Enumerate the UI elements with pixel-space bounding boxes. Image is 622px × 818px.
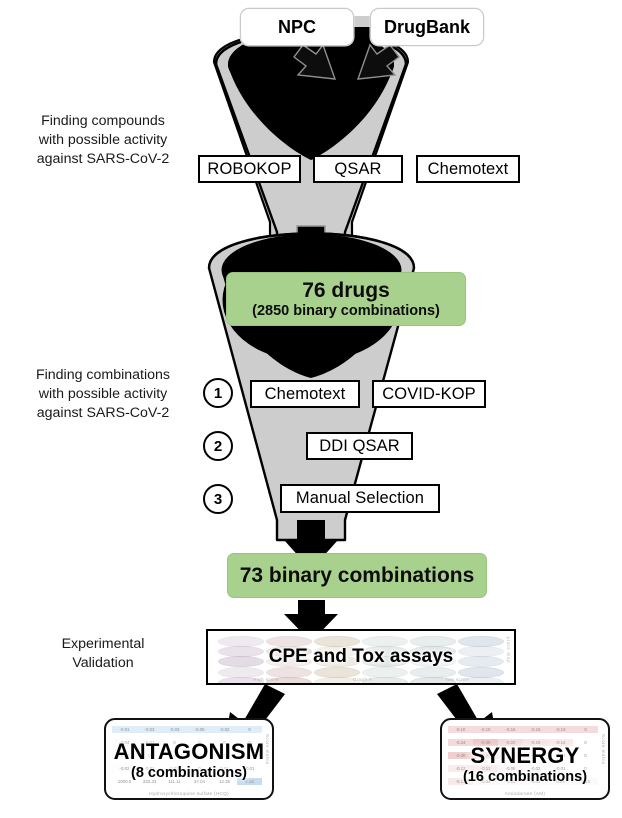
assay-well bbox=[218, 667, 264, 678]
heatmap-cell: -0.10 bbox=[448, 726, 473, 733]
method-box-chemotext-stage1[interactable]: Chemotext bbox=[416, 155, 520, 183]
heatmap-cell: -0.01 bbox=[112, 726, 137, 733]
step-number-1-label: 1 bbox=[214, 385, 222, 402]
synergy-caption: Amiodarone (AM) bbox=[442, 791, 608, 796]
assay-footer-item-2: low score bbox=[446, 677, 469, 682]
result-box-76-drugs: 76 drugs (2850 binary combinations) bbox=[226, 272, 466, 326]
source-box-npc-label: NPC bbox=[278, 17, 316, 38]
method-box-manual-selection-label: Manual Selection bbox=[296, 489, 424, 508]
heatmap-row: -0.01-0.03-0.03-0.05-0.020 bbox=[112, 726, 262, 733]
method-box-chemotext-stage2-label: Chemotext bbox=[265, 385, 346, 404]
source-connector-cap bbox=[353, 16, 371, 27]
method-box-chemotext-stage2[interactable]: Chemotext bbox=[250, 380, 360, 408]
heatmap-cell: -0.13 bbox=[548, 726, 573, 733]
synergy-subtitle: (16 combinations) bbox=[442, 768, 608, 787]
heatmap-cell: -0.02 bbox=[212, 726, 237, 733]
workflow-diagram: Finding compounds with possible activity… bbox=[0, 0, 622, 818]
assay-footer-item-1: Graph A bbox=[353, 677, 373, 682]
step-number-3-label: 3 bbox=[214, 491, 222, 508]
method-box-robokop[interactable]: ROBOKOP bbox=[198, 155, 301, 183]
result-73-combinations-headline: 73 binary combinations bbox=[240, 564, 475, 587]
method-box-qsar-label: QSAR bbox=[334, 160, 381, 179]
method-box-chemotext-stage1-label: Chemotext bbox=[428, 160, 509, 179]
heatmap-cell: -0.05 bbox=[187, 726, 212, 733]
assay-well bbox=[410, 667, 456, 678]
heatmap-cell: -0.03 bbox=[162, 726, 187, 733]
method-box-qsar[interactable]: QSAR bbox=[313, 155, 403, 183]
step-number-1: 1 bbox=[203, 378, 233, 408]
synergy-title-group: SYNERGY (16 combinations) bbox=[442, 744, 608, 787]
method-box-robokop-label: ROBOKOP bbox=[207, 160, 291, 179]
heatmap-cell: 0 bbox=[237, 726, 262, 733]
heatmap-cell: -0.16 bbox=[473, 726, 498, 733]
step-number-2: 2 bbox=[203, 431, 233, 461]
assay-label: CPE and Tox assays bbox=[208, 646, 514, 668]
stage-2-description: Finding combinations with possible activ… bbox=[8, 366, 198, 423]
heatmap-row: -0.10-0.16-0.16-0.15-0.130 bbox=[448, 726, 598, 733]
assay-well bbox=[458, 667, 504, 678]
assay-box-cpe-tox: CPE and Tox assays High score Graph A lo… bbox=[206, 629, 516, 685]
method-box-ddi-qsar-label: DDI QSAR bbox=[319, 437, 400, 456]
source-box-drugbank[interactable]: DrugBank bbox=[370, 8, 484, 46]
assay-well bbox=[314, 667, 360, 678]
assay-well bbox=[362, 667, 408, 678]
outcome-box-antagonism: -0.01-0.03-0.03-0.05-0.020-0.04-0.020000… bbox=[104, 718, 274, 800]
result-76-drugs-sub: (2850 binary combinations) bbox=[252, 302, 440, 320]
source-box-drugbank-label: DrugBank bbox=[384, 17, 470, 38]
assay-footer-item-0: High score bbox=[253, 677, 279, 682]
result-box-73-combinations: 73 binary combinations bbox=[227, 553, 487, 598]
antagonism-title-group: ANTAGONISM (8 combinations) bbox=[106, 740, 272, 783]
source-box-npc[interactable]: NPC bbox=[240, 8, 354, 46]
method-box-covid-kop[interactable]: COVID-KOP bbox=[372, 380, 486, 408]
assay-plate-footer: High score Graph A low score bbox=[216, 677, 506, 682]
antagonism-subtitle: (8 combinations) bbox=[106, 764, 272, 783]
outcome-box-synergy: -0.10-0.16-0.16-0.15-0.130-0.24-0.35-0.2… bbox=[440, 718, 610, 800]
synergy-title: SYNERGY bbox=[442, 744, 608, 768]
heatmap-cell: -0.03 bbox=[137, 726, 162, 733]
method-box-covid-kop-label: COVID-KOP bbox=[382, 385, 476, 404]
method-box-manual-selection[interactable]: Manual Selection bbox=[280, 484, 440, 513]
heatmap-cell: -0.16 bbox=[498, 726, 523, 733]
stage-3-description: Experimental Validation bbox=[18, 635, 188, 673]
heatmap-cell: -0.15 bbox=[523, 726, 548, 733]
method-box-ddi-qsar[interactable]: DDI QSAR bbox=[306, 432, 413, 460]
assay-well bbox=[266, 667, 312, 678]
step-number-2-label: 2 bbox=[214, 438, 222, 455]
stage-1-description: Finding compounds with possible activity… bbox=[8, 112, 198, 169]
antagonism-caption: Hydroxychloroquine sulfate (HCQ) bbox=[106, 791, 272, 796]
step-number-3: 3 bbox=[203, 484, 233, 514]
result-76-drugs-headline: 76 drugs bbox=[302, 279, 390, 302]
heatmap-cell: 0 bbox=[573, 726, 598, 733]
antagonism-title: ANTAGONISM bbox=[106, 740, 272, 764]
